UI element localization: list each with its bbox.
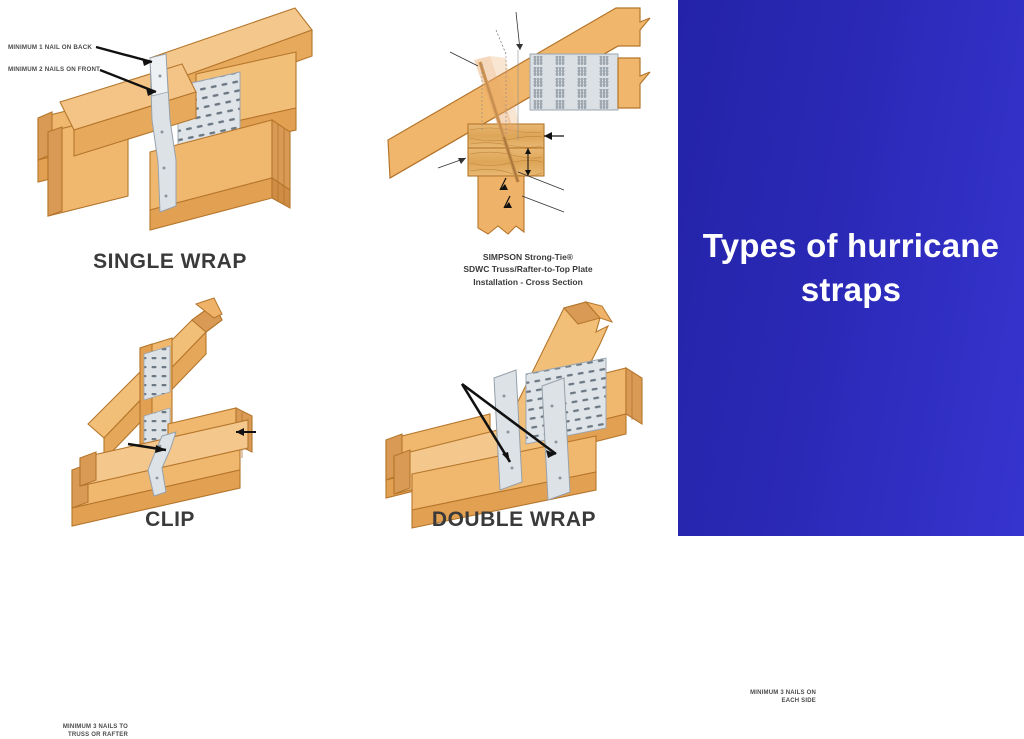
callout-minimum-2-nails-front: MINIMUM 2 NAILS ON FRONT bbox=[8, 66, 100, 74]
caption-line: SIMPSON Strong-Tie® bbox=[378, 251, 678, 263]
cross-section-illustration bbox=[378, 0, 678, 292]
caption-cross-section: SIMPSON Strong-Tie® SDWC Truss/Rafter-to… bbox=[378, 251, 678, 288]
callout-line: TRUSS OR RAFTER bbox=[68, 732, 128, 738]
single-wrap-illustration bbox=[0, 0, 340, 282]
diagram-cross-section: Truss/Rafter Optimal 22.5° typ. SDWC1560… bbox=[378, 0, 678, 292]
callout-minimum-3-nails-each-side: MINIMUM 3 NAILS ONEACH SIDE bbox=[738, 690, 816, 705]
diagram-single-wrap: MINIMUM 1 NAIL ON BACK MINIMUM 2 NAILS O… bbox=[0, 0, 340, 282]
caption-line: SDWC Truss/Rafter-to-Top Plate bbox=[378, 263, 678, 275]
callout-line: MINIMUM 3 NAILS TO bbox=[63, 724, 128, 730]
callout-line: MINIMUM 3 NAILS ON bbox=[750, 690, 816, 696]
caption-line: Installation - Cross Section bbox=[378, 276, 678, 288]
title-panel: Types of hurricane straps bbox=[678, 0, 1024, 536]
caption-double-wrap: DOUBLE WRAP bbox=[350, 508, 678, 532]
diagram-clip: MINIMUM 3 NAILS TOTRUSS OR RAFTER CLIP bbox=[0, 292, 340, 536]
page-title: Types of hurricane straps bbox=[678, 224, 1024, 311]
callout-minimum-1-nail-back: MINIMUM 1 NAIL ON BACK bbox=[8, 44, 92, 52]
infographic-page: MINIMUM 1 NAIL ON BACK MINIMUM 2 NAILS O… bbox=[0, 0, 1024, 536]
caption-clip: CLIP bbox=[0, 508, 340, 532]
callout-line: EACH SIDE bbox=[782, 698, 816, 704]
diagram-double-wrap: MINIMUM 3 NAILS ONEACH SIDE DOUBLE WRAP bbox=[350, 292, 678, 536]
diagram-collage: MINIMUM 1 NAIL ON BACK MINIMUM 2 NAILS O… bbox=[0, 0, 678, 536]
double-wrap-illustration bbox=[350, 292, 678, 536]
clip-illustration bbox=[0, 292, 340, 536]
callout-minimum-3-nails-truss: MINIMUM 3 NAILS TOTRUSS OR RAFTER bbox=[42, 724, 128, 739]
caption-single-wrap: SINGLE WRAP bbox=[0, 250, 340, 274]
